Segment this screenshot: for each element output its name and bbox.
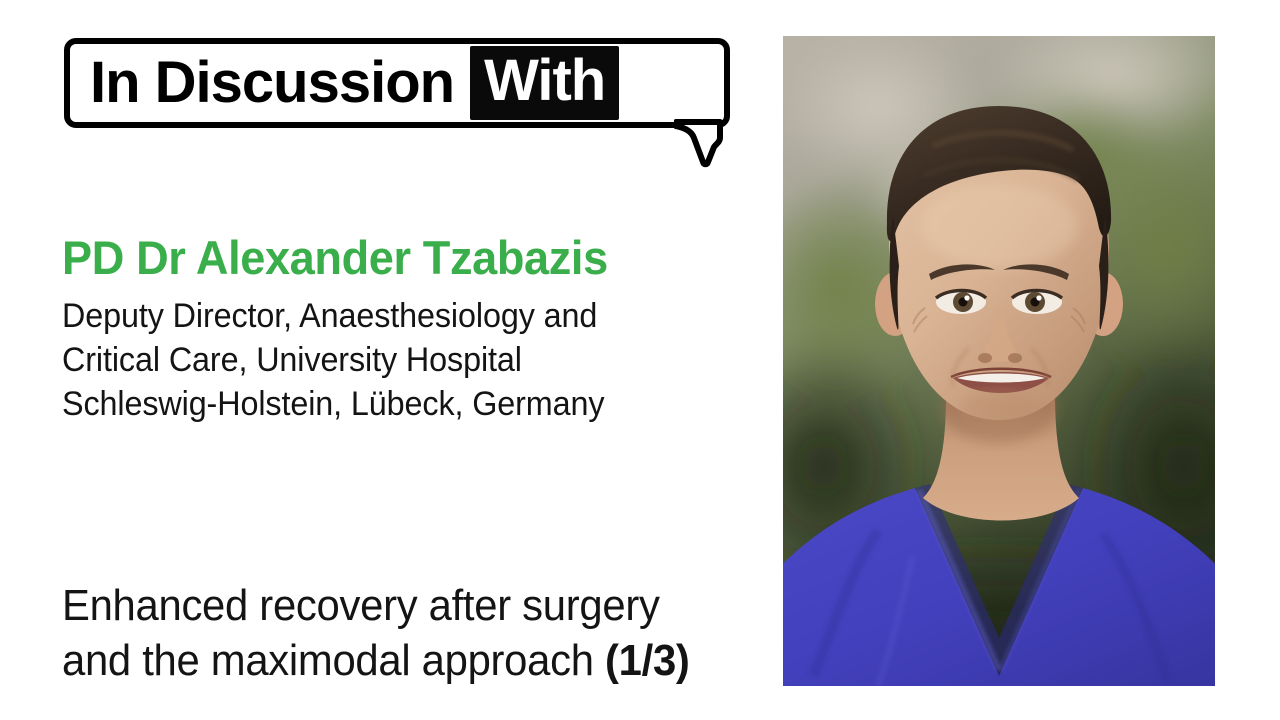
- slide-root: In Discussion With PD Dr Alexander Tzaba…: [0, 0, 1280, 720]
- speaker-affiliation: Deputy Director, Anaesthesiology and Cri…: [62, 294, 727, 426]
- episode-title: Enhanced recovery after surgery and the …: [62, 578, 765, 688]
- brand-logo-word-highlight: With: [470, 46, 619, 120]
- episode-title-line: and the maximodal approach (1/3): [62, 633, 765, 688]
- brand-logo-text: In Discussion With: [64, 38, 730, 128]
- episode-title-line: Enhanced recovery after surgery: [62, 578, 765, 633]
- speaker-portrait: [783, 36, 1215, 686]
- affiliation-line: Deputy Director, Anaesthesiology and: [62, 294, 727, 338]
- speaker-name: PD Dr Alexander Tzabazis: [62, 232, 734, 284]
- affiliation-line: Critical Care, University Hospital: [62, 338, 727, 382]
- brand-logo: In Discussion With: [64, 38, 730, 166]
- brand-logo-word-primary: In Discussion: [90, 54, 454, 112]
- episode-title-line-text: and the maximodal approach: [62, 636, 605, 685]
- speaker-block: PD Dr Alexander Tzabazis Deputy Director…: [62, 232, 762, 426]
- affiliation-line: Schleswig-Holstein, Lübeck, Germany: [62, 382, 727, 426]
- portrait-image: [783, 36, 1215, 686]
- speech-bubble-tail-icon: [674, 116, 726, 168]
- episode-part-badge: (1/3): [605, 636, 690, 685]
